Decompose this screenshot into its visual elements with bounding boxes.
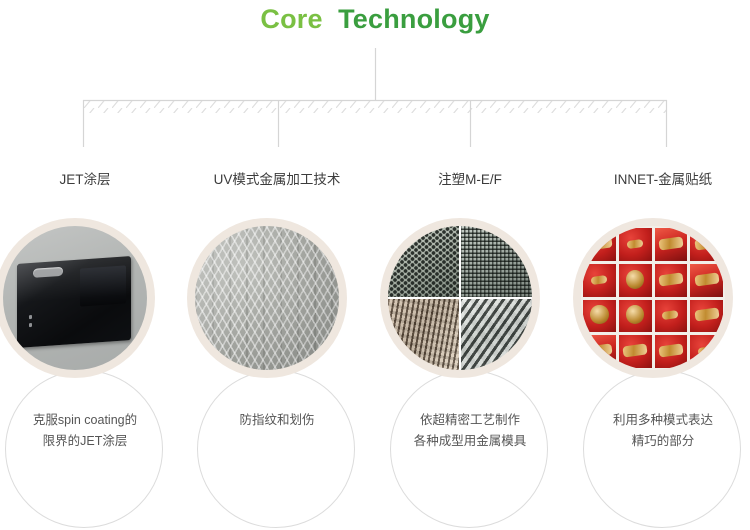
panel-gloss xyxy=(17,256,131,303)
uv-patterned-metal-photo xyxy=(195,226,339,370)
logo-tile xyxy=(655,228,688,261)
panel-indicator-dot xyxy=(29,323,32,327)
logo-tile xyxy=(619,300,652,333)
image-circle xyxy=(380,218,540,378)
logo-tile xyxy=(690,335,723,368)
item-label: INNET-金属贴纸 xyxy=(568,170,750,190)
logo-tile xyxy=(583,300,616,333)
logo-tile xyxy=(655,335,688,368)
red-gold-logo-grid-photo xyxy=(581,226,725,370)
metal-texture-quadrants-photo xyxy=(388,226,532,370)
logo-tile xyxy=(619,228,652,261)
logo-tile xyxy=(619,264,652,297)
item-caption: 利用多种模式表达 精巧的部分 xyxy=(573,410,750,452)
item-caption: 防指纹和划伤 xyxy=(187,410,367,431)
image-circle xyxy=(187,218,347,378)
item-caption: 依超精密工艺制作 各种成型用金属模具 xyxy=(380,410,560,452)
technology-item-innet-metal-sticker: INNET-金属贴纸 利用多 xyxy=(568,0,750,530)
logo-tile xyxy=(619,335,652,368)
quadrant-divider-horizontal xyxy=(388,297,532,299)
logo-tile xyxy=(690,264,723,297)
panel-body xyxy=(17,256,131,348)
panel-indicator-dot xyxy=(29,315,32,319)
texture-quadrant-fine-grid xyxy=(460,226,532,298)
logo-tile xyxy=(583,335,616,368)
logo-tile xyxy=(583,264,616,297)
caption-circle xyxy=(197,370,355,528)
texture-quadrant-diagonal-stripe xyxy=(460,298,532,370)
logo-tile xyxy=(655,300,688,333)
item-label: JET涂层 xyxy=(0,170,180,190)
texture-quadrant-bronze-weave xyxy=(388,298,460,370)
item-label: 注塑M-E/F xyxy=(375,170,565,190)
logo-tile-grid xyxy=(581,226,725,370)
technology-item-uv-metal-processing: UV模式金属加工技术 防指纹和划伤 xyxy=(182,0,372,530)
technology-item-injection-mef: 注塑M-E/F 依超精密工艺制作 各种成型用金属模具 xyxy=(375,0,565,530)
texture-quadrant-honeycomb xyxy=(388,226,460,298)
item-label: UV模式金属加工技术 xyxy=(182,170,372,190)
logo-tile xyxy=(655,264,688,297)
technology-item-jet-coating: JET涂层 克服spin coating的 限界的JET涂层 xyxy=(0,0,180,530)
logo-tile xyxy=(583,228,616,261)
black-glossy-panel-photo xyxy=(3,226,147,370)
logo-tile xyxy=(690,300,723,333)
metal-sheen xyxy=(195,226,339,370)
image-circle xyxy=(0,218,155,378)
logo-tile xyxy=(690,228,723,261)
item-caption: 克服spin coating的 限界的JET涂层 xyxy=(0,410,175,452)
image-circle xyxy=(573,218,733,378)
